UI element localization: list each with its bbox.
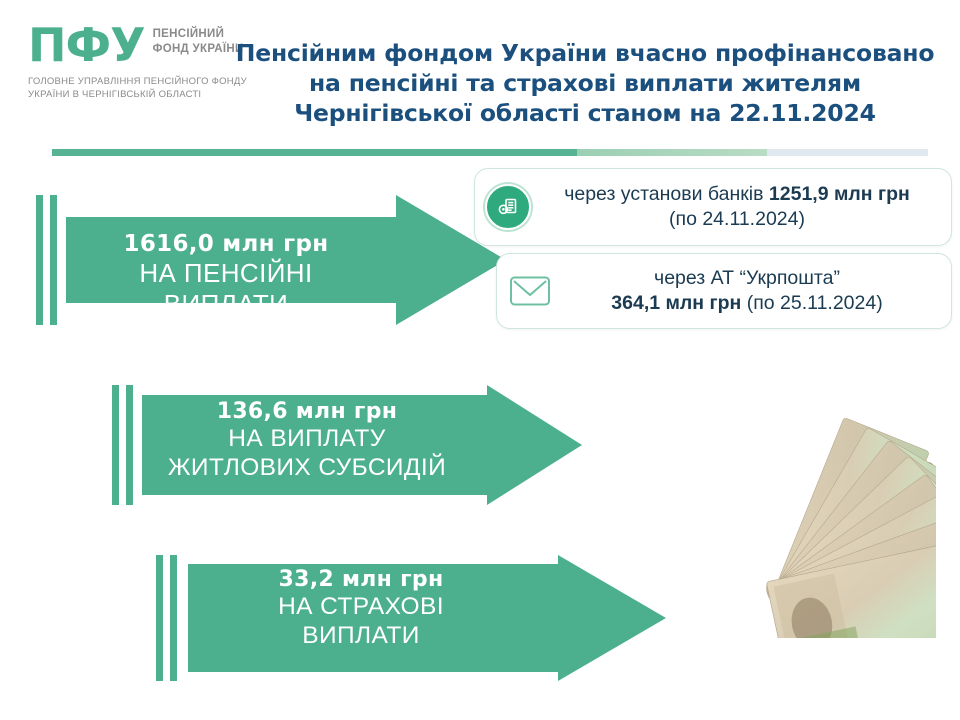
- banks-prefix: через установи банків: [564, 183, 769, 205]
- arrow-accent-bars: [112, 385, 133, 505]
- organization-logo-block: ПФУ ПЕНСІЙНИЙ ФОНД УКРАЇНИ ГОЛОВНЕ УПРАВ…: [28, 24, 258, 102]
- arrow-text: 136,6 млн грн НА ВИПЛАТУ ЖИТЛОВИХ СУБСИД…: [147, 399, 467, 483]
- arrow-text: 1616,0 млн грн НА ПЕНСІЙНІ ВИПЛАТИ: [76, 231, 376, 319]
- arrow-accent-bars: [36, 195, 57, 325]
- arrow-amount: 1616,0 млн грн: [76, 231, 376, 258]
- logo-subtitle: ГОЛОВНЕ УПРАВЛІННЯ ПЕНСІЙНОГО ФОНДУ УКРА…: [28, 75, 258, 103]
- page-title-line-2: на пенсійні та страхові виплати жителям: [225, 68, 945, 98]
- insurance-payments-arrow: 33,2 млн грн НА СТРАХОВІ ВИПЛАТИ: [156, 555, 666, 681]
- ukrposhta-amount: 364,1 млн грн: [611, 292, 741, 314]
- ukrposhta-card-text: через АТ “Укрпошта” 364,1 млн грн (по 25…: [555, 266, 939, 317]
- envelope-icon: [507, 273, 553, 309]
- arrow-accent-bars: [156, 555, 177, 681]
- banks-card-line-1: через установи банків 1251,9 млн грн: [537, 182, 937, 207]
- ukrposhta-date: (по 25.11.2024): [741, 292, 882, 314]
- hryvnia-banknotes-fan-image: 500 500 500 500 500 500: [636, 338, 936, 638]
- banks-card-line-2: (по 24.11.2024): [537, 207, 937, 232]
- pfu-logo-icon: ПФУ: [28, 24, 145, 68]
- arrow-amount: 136,6 млн грн: [147, 399, 467, 425]
- banks-card-text: через установи банків 1251,9 млн грн (по…: [535, 182, 937, 233]
- divider-segment-light: [767, 149, 928, 156]
- ukrposhta-card-line-2: 364,1 млн грн (по 25.11.2024): [555, 291, 939, 316]
- banks-channel-card: через установи банків 1251,9 млн грн (по…: [474, 168, 952, 246]
- banks-amount: 1251,9 млн грн: [769, 183, 910, 205]
- coins-icon: [485, 184, 531, 230]
- page-title: Пенсійним фондом України вчасно профінан…: [225, 38, 945, 128]
- arrow-label: НА ПЕНСІЙНІ ВИПЛАТИ: [76, 258, 376, 319]
- divider-segment-green: [52, 149, 577, 156]
- header: ПФУ ПЕНСІЙНИЙ ФОНД УКРАЇНИ ГОЛОВНЕ УПРАВ…: [0, 0, 960, 145]
- header-divider: [52, 149, 928, 156]
- arrow-amount: 33,2 млн грн: [196, 567, 526, 593]
- arrow-label: НА СТРАХОВІ ВИПЛАТИ: [196, 593, 526, 651]
- ukrposhta-card-line-1: через АТ “Укрпошта”: [555, 266, 939, 291]
- page-title-line-3: Чернігівської області станом на 22.11.20…: [225, 98, 945, 128]
- ukrposhta-channel-card: через АТ “Укрпошта” 364,1 млн грн (по 25…: [496, 253, 952, 329]
- page-title-line-1: Пенсійним фондом України вчасно профінан…: [225, 38, 945, 68]
- logo-row: ПФУ ПЕНСІЙНИЙ ФОНД УКРАЇНИ: [28, 24, 258, 68]
- housing-subsidies-arrow: 136,6 млн грн НА ВИПЛАТУ ЖИТЛОВИХ СУБСИД…: [112, 385, 582, 505]
- arrow-label: НА ВИПЛАТУ ЖИТЛОВИХ СУБСИДІЙ: [147, 425, 467, 483]
- arrow-text: 33,2 млн грн НА СТРАХОВІ ВИПЛАТИ: [196, 567, 526, 651]
- divider-segment-mid: [577, 149, 767, 156]
- pension-payments-arrow: 1616,0 млн грн НА ПЕНСІЙНІ ВИПЛАТИ: [36, 195, 506, 325]
